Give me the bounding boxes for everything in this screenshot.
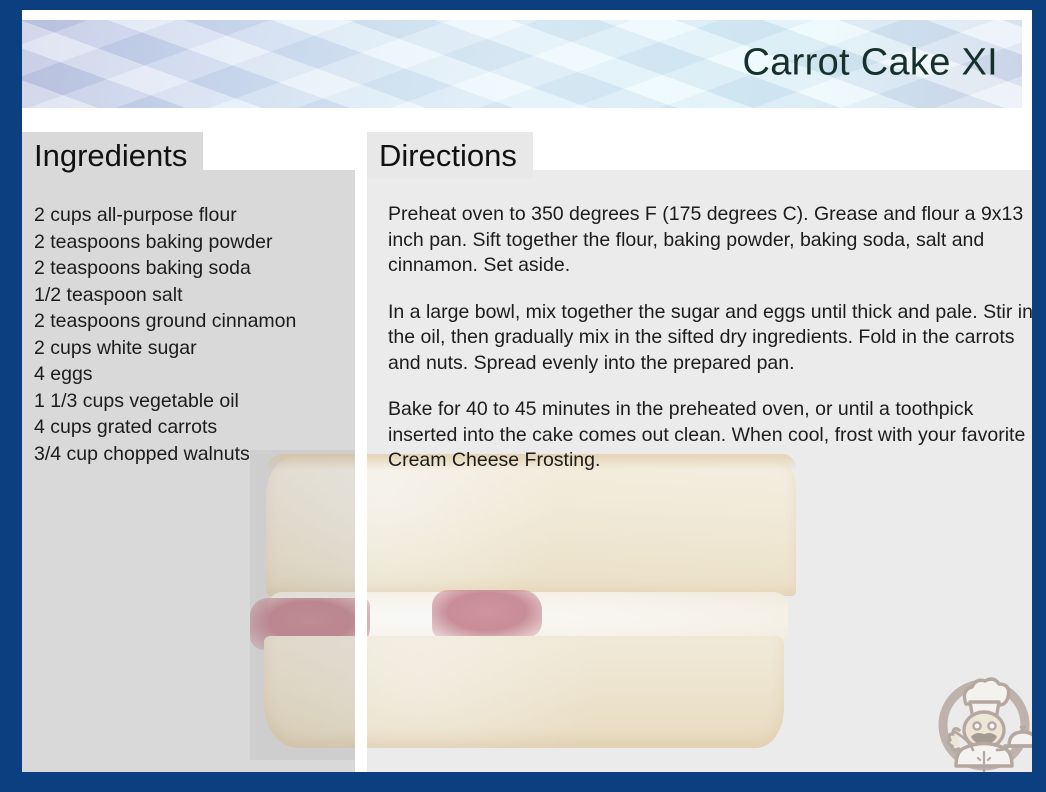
ingredient-item: 2 teaspoons baking powder bbox=[34, 229, 359, 256]
header-banner: Carrot Cake XI bbox=[22, 20, 1022, 108]
ingredient-item: 1/2 teaspoon salt bbox=[34, 282, 359, 309]
directions-paragraph: Bake for 40 to 45 minutes in the preheat… bbox=[388, 397, 1032, 474]
ingredient-item: 3/4 cup chopped walnuts bbox=[34, 441, 359, 468]
ingredient-item: 1 1/3 cups vegetable oil bbox=[34, 388, 359, 415]
directions-paragraph: Preheat oven to 350 degrees F (175 degre… bbox=[388, 202, 1032, 279]
ingredients-heading-label: Ingredients bbox=[34, 138, 187, 174]
directions-heading-label: Directions bbox=[379, 138, 517, 174]
chef-mascot-logo bbox=[925, 662, 1032, 772]
ingredient-item: 2 teaspoons ground cinnamon bbox=[34, 308, 359, 335]
recipe-title: Carrot Cake XI bbox=[742, 42, 998, 85]
page-surface: Carrot Cake XI Ingredients Directions 2 … bbox=[22, 10, 1032, 772]
ingredients-list: 2 cups all-purpose flour 2 teaspoons bak… bbox=[34, 202, 359, 467]
directions-paragraph: In a large bowl, mix together the sugar … bbox=[388, 300, 1032, 377]
recipe-card: Carrot Cake XI Ingredients Directions 2 … bbox=[0, 0, 1046, 792]
ingredient-item: 4 cups grated carrots bbox=[34, 414, 359, 441]
ingredient-item: 2 teaspoons baking soda bbox=[34, 255, 359, 282]
ingredient-item: 2 cups white sugar bbox=[34, 335, 359, 362]
directions-heading: Directions bbox=[367, 132, 533, 178]
ingredient-item: 4 eggs bbox=[34, 361, 359, 388]
directions-body: Preheat oven to 350 degrees F (175 degre… bbox=[388, 202, 1032, 474]
ingredient-item: 2 cups all-purpose flour bbox=[34, 202, 359, 229]
ingredients-heading: Ingredients bbox=[22, 132, 203, 178]
